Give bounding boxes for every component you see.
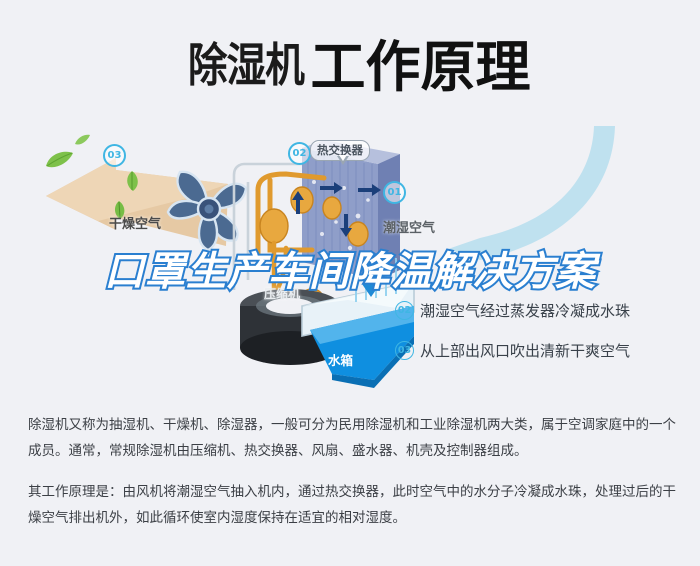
leaf-icon: [74, 134, 91, 146]
legend-item-label: 从上部出风口吹出清新干爽空气: [420, 340, 630, 361]
infographic-page: 除湿机工作原理: [0, 0, 700, 566]
watermark-overlay-text: 口罩生产车间降温解决方案: [104, 248, 624, 297]
paragraph: 除湿机又称为抽湿机、干燥机、除湿器，一般可分为民用除湿机和工业除湿机两大类，属于…: [28, 412, 676, 465]
badge-heat-exchanger: 02: [288, 142, 311, 165]
leaf-icon: [44, 150, 74, 170]
badge-dry-air: 03: [103, 144, 126, 167]
list-item: 03 从上部出风口吹出清新干爽空气: [395, 340, 695, 361]
legend-badge: 03: [395, 341, 414, 360]
label-dry-air: 干燥空气: [109, 213, 161, 232]
bubble-pointer-icon: [337, 156, 349, 165]
legend-item-label: 潮湿空气经过蒸发器冷凝成水珠: [420, 300, 630, 321]
label-water-tank: 水箱: [328, 350, 353, 369]
list-item: 02 潮湿空气经过蒸发器冷凝成水珠: [395, 300, 695, 321]
legend-badge: 02: [395, 301, 414, 320]
badge-humid-air: 01: [383, 181, 406, 204]
label-humid-air: 潮湿空气: [383, 217, 435, 236]
paragraph: 其工作原理是：由风机将潮湿空气抽入机内，通过热交换器，此时空气中的水分子冷凝成水…: [28, 479, 676, 532]
watermark-text: 口罩生产车间降温解决方案: [104, 250, 596, 294]
page-title: 除湿机工作原理: [0, 22, 700, 102]
page-title-main: 工作原理: [310, 22, 530, 102]
legend-list: 02 潮湿空气经过蒸发器冷凝成水珠 03 从上部出风口吹出清新干爽空气: [395, 300, 695, 380]
page-title-prefix: 除湿机: [188, 29, 304, 95]
article-body: 除湿机又称为抽湿机、干燥机、除湿器，一般可分为民用除湿机和工业除湿机两大类，属于…: [28, 412, 676, 545]
leaf-icon: [124, 170, 140, 192]
